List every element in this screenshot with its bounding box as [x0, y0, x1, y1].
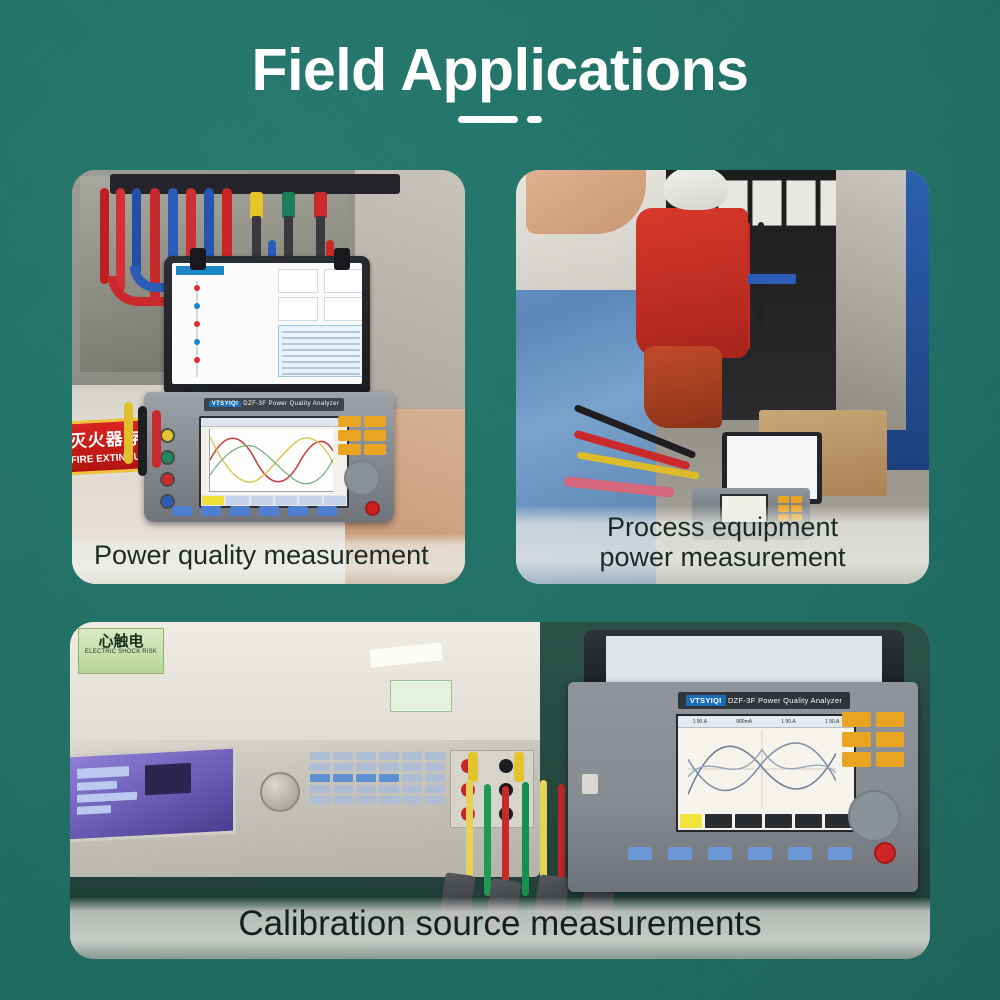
clip-green [282, 192, 295, 218]
title-divider [0, 116, 1000, 123]
cable-red-1 [100, 188, 109, 284]
key[interactable] [379, 774, 399, 782]
brand-name: VTSYIQI [209, 401, 241, 407]
keypad-key[interactable] [876, 752, 905, 767]
keypad-key[interactable] [778, 496, 789, 503]
sheet-diagram [278, 269, 318, 293]
photo-card-process-equipment: Process equipment power measurement [516, 170, 929, 584]
key[interactable] [379, 763, 399, 771]
cable-blue-1 [132, 188, 141, 276]
analyzer-lid [164, 256, 370, 393]
function-key-f1[interactable] [628, 847, 652, 860]
power-button[interactable] [874, 842, 896, 864]
key[interactable] [402, 752, 422, 760]
screen-status-bar [201, 418, 347, 427]
power-button[interactable] [365, 501, 380, 516]
function-key-row[interactable] [172, 506, 337, 516]
function-key-f4[interactable] [259, 506, 279, 516]
softkey[interactable] [324, 496, 346, 505]
hair-net [664, 170, 728, 210]
photo-card-calibration-source: 心触电 ELECTRIC SHOCK RISK [70, 622, 930, 959]
electric-shock-warning-label: 心触电 ELECTRIC SHOCK RISK [78, 628, 164, 674]
calibration-sticker [390, 680, 452, 712]
rotary-knob[interactable] [260, 772, 300, 812]
screen-softkey-bar [201, 495, 347, 506]
technician-boot [644, 346, 722, 428]
softkey[interactable] [765, 814, 792, 828]
card-caption: Power quality measurement [72, 534, 465, 584]
test-lead-green [484, 784, 491, 896]
keypad-key[interactable] [842, 752, 871, 767]
function-key-f6[interactable] [828, 847, 852, 860]
timeline-dot [194, 321, 200, 327]
device-type: Power Quality Analyzer [268, 401, 339, 407]
sheet-diagram [324, 269, 362, 293]
key[interactable] [333, 763, 353, 771]
function-key-f3[interactable] [230, 506, 250, 516]
key[interactable] [333, 752, 353, 760]
breaker [752, 180, 782, 226]
keypad-key[interactable] [364, 430, 387, 441]
wall-right [355, 170, 465, 430]
key[interactable] [379, 752, 399, 760]
function-key-f2[interactable] [668, 847, 692, 860]
function-key-f5[interactable] [288, 506, 308, 516]
input-jacks [160, 428, 194, 516]
navigation-pad[interactable] [344, 460, 380, 496]
keypad-key[interactable] [338, 444, 361, 455]
probe-cable-black [138, 406, 147, 476]
jack-yellow [160, 428, 175, 443]
key[interactable] [310, 785, 330, 793]
card-caption: Calibration source measurements [70, 898, 930, 959]
key[interactable] [356, 785, 376, 793]
softkey[interactable] [705, 814, 732, 828]
function-key-f1[interactable] [172, 506, 192, 516]
device-type: Power Quality Analyzer [758, 696, 842, 705]
waveform-svg [688, 730, 836, 808]
key[interactable] [425, 752, 445, 760]
power-quality-analyzer: VTSYIQI DZF-3F Power Quality Analyzer 1 … [538, 630, 930, 930]
photo-card-power-quality: 灭火器存放点 FIRE EXTINGUISHER [72, 170, 465, 584]
keypad-key[interactable] [364, 416, 387, 427]
function-key-f2[interactable] [201, 506, 221, 516]
test-lead-green-2 [522, 782, 529, 896]
analyzer-brand-plate: VTSYIQI DZF-3F Power Quality Analyzer [204, 398, 344, 411]
screen-status-bar: 1 90.A 900mA 1 90.A 1 90.A [678, 716, 854, 728]
softkey[interactable] [226, 496, 248, 505]
model-name: DZF-3F [728, 696, 756, 705]
instruction-sheet [172, 263, 362, 384]
keypad-key[interactable] [364, 444, 387, 455]
caption-line-1: Process equipment [526, 512, 919, 542]
page-title: Field Applications [0, 40, 1000, 102]
status-value-4: 1 90.A [825, 719, 839, 725]
key[interactable] [356, 774, 376, 782]
power-quality-analyzer: VTSYIQI DZF-3F Power Quality Analyzer [144, 392, 394, 522]
keypad-key[interactable] [338, 430, 361, 441]
caption-line-2: power measurement [526, 542, 919, 572]
timeline-dot [194, 339, 200, 345]
brand-name: VTSYIQI [686, 695, 726, 706]
key[interactable] [425, 774, 445, 782]
warning-text-en: ELECTRIC SHOCK RISK [79, 649, 163, 655]
technician-red-jacket [636, 208, 748, 358]
lead-plug-yellow-2 [514, 752, 524, 782]
key[interactable] [310, 763, 330, 771]
analyzer-body: VTSYIQI DZF-3F Power Quality Analyzer 1 … [568, 682, 918, 892]
keypad-key[interactable] [338, 416, 361, 427]
page-header: Field Applications [0, 0, 1000, 123]
key[interactable] [310, 752, 330, 760]
navigation-pad[interactable] [848, 790, 900, 842]
lid-hinge-left [190, 248, 206, 270]
function-key-f6[interactable] [317, 506, 337, 516]
function-key-f4[interactable] [748, 847, 772, 860]
function-key-row[interactable] [628, 847, 852, 860]
analyzer-lid [584, 630, 904, 688]
keypad-key[interactable] [842, 732, 871, 747]
lead-plug-yellow [468, 752, 478, 782]
divider-dash-long [458, 116, 518, 123]
jack-green [160, 450, 175, 465]
key[interactable] [356, 752, 376, 760]
jack-red [160, 472, 175, 487]
softkey[interactable] [251, 496, 273, 505]
lid-hinge-right [334, 248, 350, 270]
clip-yellow [250, 192, 263, 218]
keypad-key[interactable] [791, 496, 802, 503]
softkey[interactable] [795, 814, 822, 828]
key[interactable] [333, 774, 353, 782]
key[interactable] [402, 796, 422, 804]
photo-power-quality: 灭火器存放点 FIRE EXTINGUISHER [72, 170, 465, 584]
keypad-key[interactable] [876, 712, 905, 727]
model-name: DZF-3F [243, 401, 266, 407]
status-value-3: 1 90.A [781, 719, 795, 725]
key[interactable] [402, 774, 422, 782]
card-caption: Process equipment power measurement [516, 506, 929, 584]
probe-cable-yellow [124, 402, 133, 464]
keypad-key[interactable] [876, 732, 905, 747]
softkey[interactable] [735, 814, 762, 828]
probe-cable-red [152, 410, 161, 468]
key[interactable] [425, 796, 445, 804]
status-value-2: 900mA [736, 719, 752, 725]
analyzer-screen[interactable]: 1 90.A 900mA 1 90.A 1 90.A [676, 714, 856, 832]
analyzer-keypad[interactable] [338, 416, 386, 455]
softkey[interactable] [299, 496, 321, 505]
lid-document [606, 636, 882, 684]
calibration-source-display[interactable] [70, 745, 236, 842]
status-value-1: 1 90.A [693, 719, 707, 725]
cabinet-door [836, 170, 906, 430]
divider-dash-short [527, 116, 542, 123]
clip-red [314, 192, 327, 218]
key[interactable] [379, 796, 399, 804]
function-key-f3[interactable] [708, 847, 732, 860]
key[interactable] [425, 785, 445, 793]
key[interactable] [356, 796, 376, 804]
timeline-dot [194, 285, 200, 291]
function-key-f5[interactable] [788, 847, 812, 860]
key[interactable] [333, 796, 353, 804]
calibration-keypad[interactable] [310, 752, 445, 804]
analyzer-screen[interactable] [199, 416, 349, 508]
test-lead-red [502, 786, 509, 894]
key[interactable] [402, 785, 422, 793]
breaker [786, 180, 816, 226]
key[interactable] [425, 763, 445, 771]
key[interactable] [310, 796, 330, 804]
sheet-diagram [324, 297, 362, 321]
key[interactable] [379, 785, 399, 793]
warning-text-cn: 心触电 [79, 629, 163, 649]
timeline-dot [194, 303, 200, 309]
softkey-active[interactable] [680, 814, 702, 828]
analyzer-brand-plate: VTSYIQI DZF-3F Power Quality Analyzer [678, 692, 850, 709]
screen-softkey-bar [680, 814, 852, 828]
sheet-diagram [278, 297, 318, 321]
softkey[interactable] [202, 496, 224, 505]
waveform-plot [688, 730, 836, 808]
waveform-svg [210, 429, 333, 491]
softkey[interactable] [275, 496, 297, 505]
key[interactable] [333, 785, 353, 793]
key[interactable] [402, 763, 422, 771]
sheet-spec-table [278, 325, 362, 377]
usb-port[interactable] [582, 774, 598, 794]
key[interactable] [310, 774, 330, 782]
key[interactable] [356, 763, 376, 771]
jack-black[interactable] [499, 759, 513, 773]
timeline-dot [194, 357, 200, 363]
waveform-plot [209, 429, 333, 492]
analyzer-keypad[interactable] [842, 712, 904, 767]
keypad-key[interactable] [842, 712, 871, 727]
